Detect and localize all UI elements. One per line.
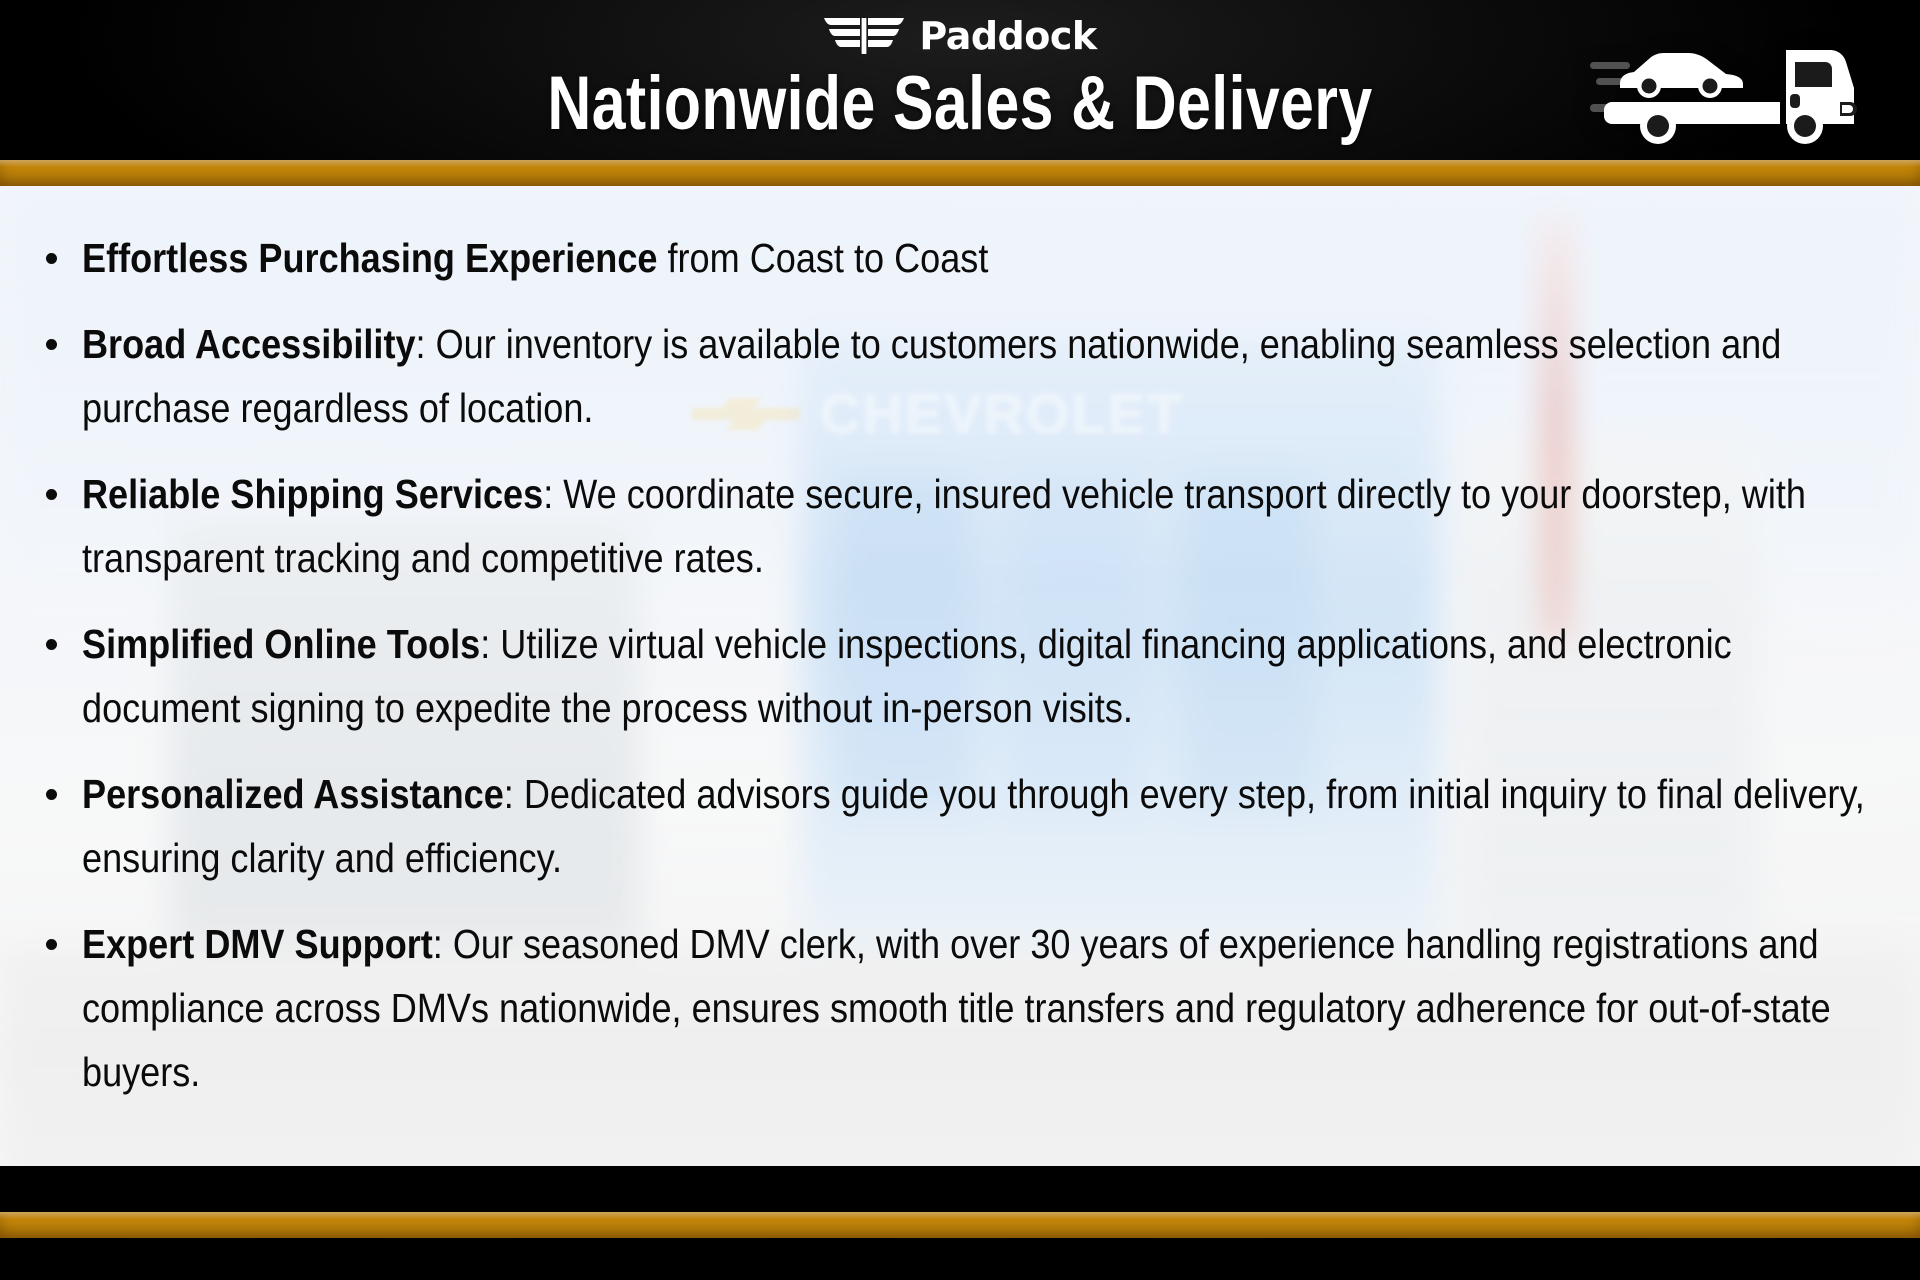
- slide-header: Paddock Nationwide Sales & Delivery: [0, 0, 1920, 185]
- bullet-lead: Broad Accessibility: [82, 321, 416, 367]
- bullet-dot-icon: [46, 789, 57, 800]
- bullet-rest: from Coast to Coast: [657, 235, 988, 281]
- list-item: Broad Accessibility: Our inventory is av…: [34, 312, 1894, 440]
- page-title: Nationwide Sales & Delivery: [192, 62, 1728, 146]
- bullet-dot-icon: [46, 489, 57, 500]
- bullet-lead: Simplified Online Tools: [82, 621, 480, 667]
- bullet-dot-icon: [46, 639, 57, 650]
- bullet-lead: Reliable Shipping Services: [82, 471, 543, 517]
- list-item: Simplified Online Tools: Utilize virtual…: [34, 612, 1894, 740]
- paddock-wings-logo-icon: [823, 16, 905, 56]
- brand-name: Paddock: [919, 16, 1096, 56]
- feature-bullet-list: Effortless Purchasing Experience from Co…: [34, 226, 1894, 1126]
- bullet-dot-icon: [46, 339, 57, 350]
- list-item: Expert DMV Support: Our seasoned DMV cle…: [34, 912, 1894, 1104]
- slide-body: CHEVROLET Effortless Purchasing Experien…: [0, 186, 1920, 1166]
- bullet-lead: Personalized Assistance: [82, 771, 504, 817]
- list-item: Personalized Assistance: Dedicated advis…: [34, 762, 1894, 890]
- bullet-dot-icon: [46, 253, 57, 264]
- gold-glitter-divider-bottom: [0, 1212, 1920, 1238]
- flatbed-tow-truck-icon: [1590, 28, 1868, 146]
- gold-glitter-divider-top: [0, 160, 1920, 186]
- slide-root: Paddock Nationwide Sales & Delivery: [0, 0, 1920, 1280]
- bullet-lead: Effortless Purchasing Experience: [82, 235, 657, 281]
- list-item: Reliable Shipping Services: We coordinat…: [34, 462, 1894, 590]
- bullet-lead: Expert DMV Support: [82, 921, 433, 967]
- bullet-dot-icon: [46, 939, 57, 950]
- list-item: Effortless Purchasing Experience from Co…: [34, 226, 1894, 290]
